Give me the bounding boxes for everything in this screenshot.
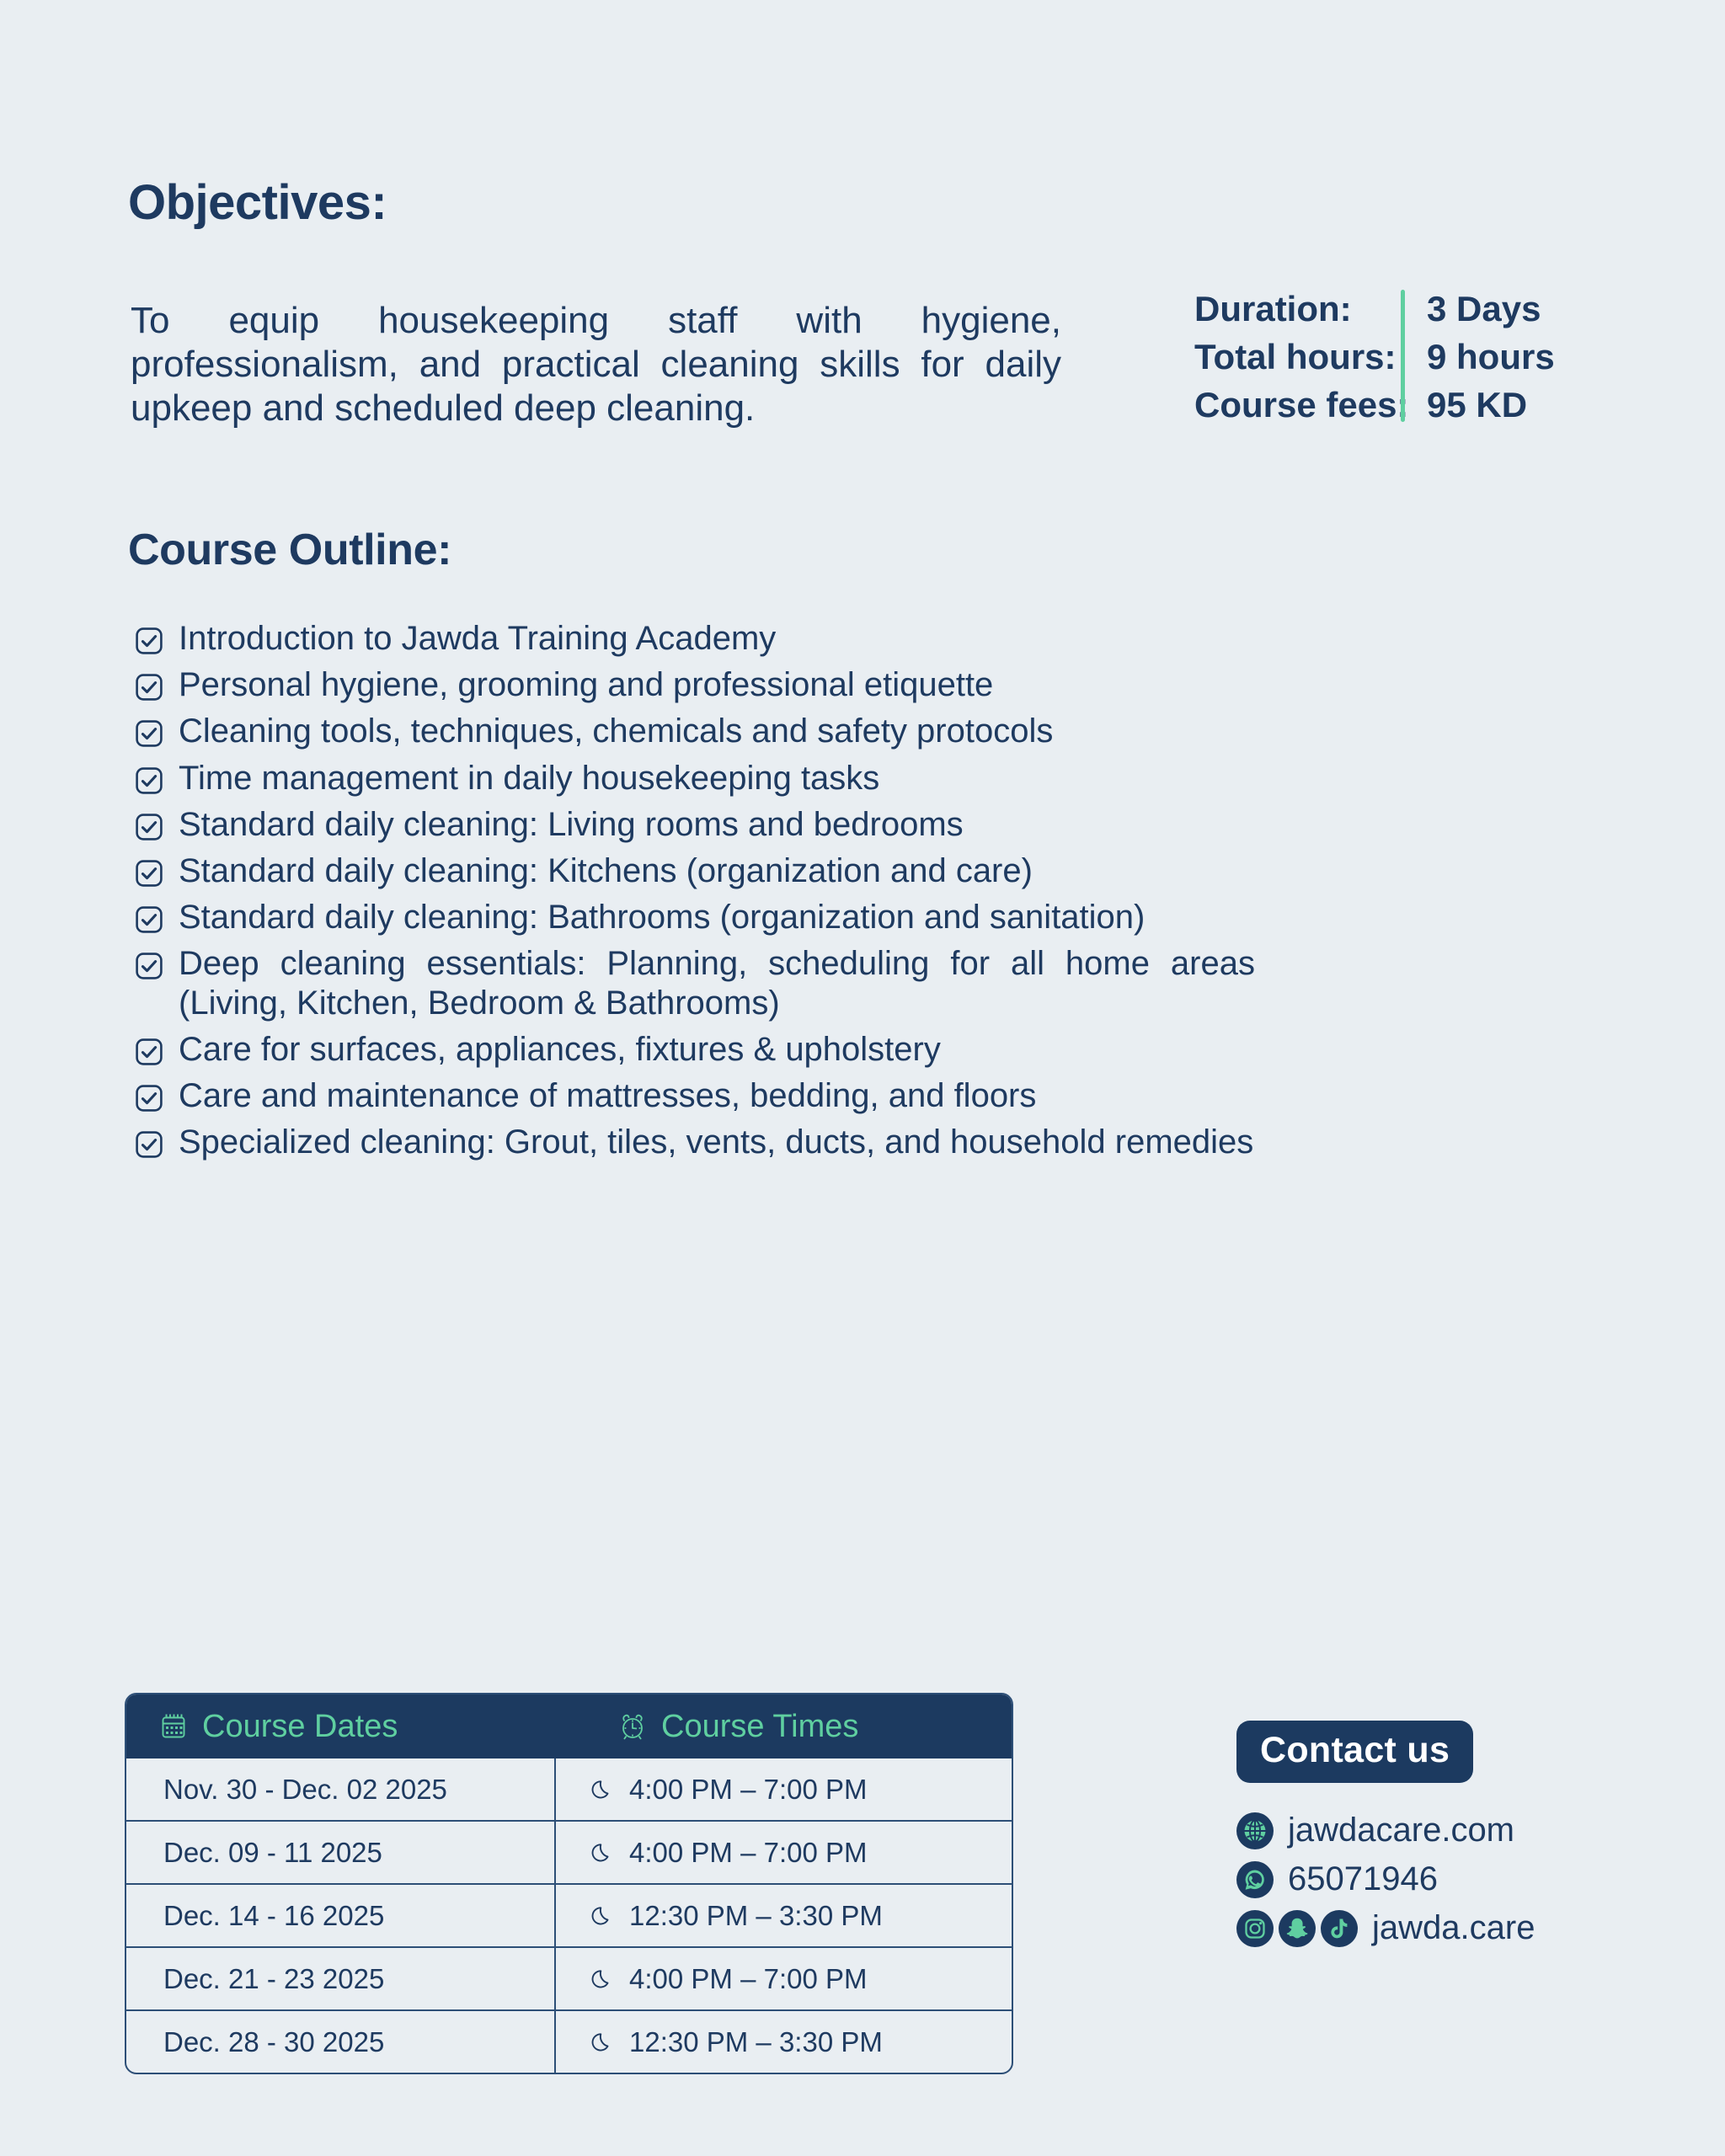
outline-item-label: Introduction to Jawda Training Academy: [179, 619, 1255, 658]
outline-item: Standard daily cleaning: Bathrooms (orga…: [135, 898, 1255, 937]
schedule-time-text: 4:00 PM – 7:00 PM: [629, 1963, 867, 1995]
schedule-table: Course Dates: [125, 1693, 1013, 2074]
schedule-table-body: Nov. 30 - Dec. 02 20254:00 PM – 7:00 PMD…: [126, 1758, 1012, 2073]
schedule-time-text: 12:30 PM – 3:30 PM: [629, 2026, 883, 2058]
schedule-table-row: Dec. 21 - 23 20254:00 PM – 7:00 PM: [126, 1946, 1012, 2009]
outline-item: Care for surfaces, appliances, fixtures …: [135, 1030, 1255, 1069]
column-header-course-times: Course Times: [588, 1694, 1012, 1758]
duration-label: Duration:: [1194, 285, 1401, 333]
checkbox-checked-icon: [135, 952, 163, 980]
schedule-time-cell: 4:00 PM – 7:00 PM: [556, 1948, 1012, 2009]
outline-item: Standard daily cleaning: Kitchens (organ…: [135, 851, 1255, 890]
crescent-moon-icon: [590, 1778, 613, 1801]
schedule-time-cell: 4:00 PM – 7:00 PM: [556, 1758, 1012, 1820]
outline-item: Cleaning tools, techniques, chemicals an…: [135, 712, 1255, 750]
schedule-time-cell: 12:30 PM – 3:30 PM: [556, 2011, 1012, 2073]
outline-item: Introduction to Jawda Training Academy: [135, 619, 1255, 658]
outline-item: Personal hygiene, grooming and professio…: [135, 665, 1255, 704]
crescent-moon-icon: [590, 1841, 613, 1865]
schedule-table-row: Nov. 30 - Dec. 02 20254:00 PM – 7:00 PM: [126, 1758, 1012, 1820]
checkbox-checked-icon: [135, 1084, 163, 1113]
contact-row[interactable]: jawda.care: [1236, 1909, 1590, 1947]
outline-item: Deep cleaning essentials: Planning, sche…: [135, 944, 1255, 1022]
objectives-heading: Objectives:: [128, 179, 387, 227]
schedule-date-cell: Dec. 28 - 30 2025: [126, 2011, 556, 2073]
contact-row[interactable]: 65071946: [1236, 1860, 1590, 1898]
course-outline-heading: Course Outline:: [128, 528, 451, 572]
outline-item-label: Specialized cleaning: Grout, tiles, vent…: [179, 1123, 1255, 1161]
outline-item: Time management in daily housekeeping ta…: [135, 759, 1255, 798]
outline-item-label: Standard daily cleaning: Bathrooms (orga…: [179, 898, 1255, 937]
globe-icon[interactable]: [1236, 1812, 1274, 1849]
schedule-date-text: Dec. 28 - 30 2025: [163, 2026, 384, 2058]
checkbox-checked-icon: [135, 719, 163, 748]
course-fees-value: 95 KD: [1427, 381, 1555, 429]
outline-item: Standard daily cleaning: Living rooms an…: [135, 805, 1255, 844]
checkbox-checked-icon: [135, 1130, 163, 1159]
calendar-icon: [158, 1711, 189, 1742]
outline-item: Care and maintenance of mattresses, bedd…: [135, 1076, 1255, 1115]
schedule-time-cell: 12:30 PM – 3:30 PM: [556, 1885, 1012, 1946]
column-header-course-times-label: Course Times: [661, 1709, 858, 1745]
instagram-icon[interactable]: [1236, 1910, 1274, 1947]
course-meta-labels: Duration: Total hours: Course fees:: [1194, 285, 1401, 429]
contact-handle-text: jawda.care: [1372, 1909, 1535, 1947]
schedule-time-text: 12:30 PM – 3:30 PM: [629, 1900, 883, 1932]
duration-value: 3 Days: [1427, 285, 1555, 333]
course-fees-label: Course fees:: [1194, 381, 1401, 429]
whatsapp-icon[interactable]: [1236, 1861, 1274, 1898]
checkbox-checked-icon: [135, 673, 163, 702]
outline-item: Specialized cleaning: Grout, tiles, vent…: [135, 1123, 1255, 1161]
contact-handle-text: 65071946: [1288, 1860, 1438, 1898]
outline-item-label: Standard daily cleaning: Living rooms an…: [179, 805, 1255, 844]
schedule-date-cell: Dec. 21 - 23 2025: [126, 1948, 556, 2009]
schedule-time-text: 4:00 PM – 7:00 PM: [629, 1837, 867, 1869]
outline-item-label: Standard daily cleaning: Kitchens (organ…: [179, 851, 1255, 890]
checkbox-checked-icon: [135, 1038, 163, 1066]
total-hours-label: Total hours:: [1194, 333, 1401, 381]
schedule-table-row: Dec. 28 - 30 202512:30 PM – 3:30 PM: [126, 2009, 1012, 2073]
outline-item-label: Care for surfaces, appliances, fixtures …: [179, 1030, 1255, 1069]
crescent-moon-icon: [590, 1904, 613, 1928]
checkbox-checked-icon: [135, 627, 163, 655]
outline-item-label: Deep cleaning essentials: Planning, sche…: [179, 944, 1255, 1022]
contact-block: Contact us jawdacare.com65071946jawda.ca…: [1236, 1721, 1590, 1958]
meta-divider: [1401, 290, 1405, 422]
outline-item-label: Time management in daily housekeeping ta…: [179, 759, 1255, 798]
course-meta-block: Duration: Total hours: Course fees: 3 Da…: [1194, 285, 1555, 429]
schedule-time-text: 4:00 PM – 7:00 PM: [629, 1774, 867, 1806]
schedule-date-text: Dec. 21 - 23 2025: [163, 1963, 384, 1995]
alarm-clock-icon: [617, 1711, 648, 1742]
column-header-course-dates: Course Dates: [126, 1694, 588, 1758]
schedule-date-text: Nov. 30 - Dec. 02 2025: [163, 1774, 447, 1806]
snapchat-icon[interactable]: [1279, 1910, 1316, 1947]
contact-row[interactable]: jawdacare.com: [1236, 1812, 1590, 1849]
schedule-date-text: Dec. 14 - 16 2025: [163, 1900, 384, 1932]
checkbox-checked-icon: [135, 766, 163, 795]
crescent-moon-icon: [590, 2031, 613, 2054]
schedule-date-cell: Nov. 30 - Dec. 02 2025: [126, 1758, 556, 1820]
crescent-moon-icon: [590, 1967, 613, 1991]
schedule-time-cell: 4:00 PM – 7:00 PM: [556, 1822, 1012, 1883]
schedule-table-row: Dec. 09 - 11 20254:00 PM – 7:00 PM: [126, 1820, 1012, 1883]
contact-rows: jawdacare.com65071946jawda.care: [1236, 1812, 1590, 1947]
checkbox-checked-icon: [135, 905, 163, 934]
course-flyer-page: Objectives: To equip housekeeping staff …: [0, 0, 1725, 2156]
outline-item-label: Cleaning tools, techniques, chemicals an…: [179, 712, 1255, 750]
checkbox-checked-icon: [135, 859, 163, 888]
schedule-date-cell: Dec. 09 - 11 2025: [126, 1822, 556, 1883]
column-header-course-dates-label: Course Dates: [202, 1709, 398, 1745]
outline-item-label: Care and maintenance of mattresses, bedd…: [179, 1076, 1255, 1115]
tiktok-icon[interactable]: [1321, 1910, 1358, 1947]
schedule-table-row: Dec. 14 - 16 202512:30 PM – 3:30 PM: [126, 1883, 1012, 1946]
course-meta-values: 3 Days 9 hours 95 KD: [1427, 285, 1555, 429]
total-hours-value: 9 hours: [1427, 333, 1555, 381]
contact-handle-text: jawdacare.com: [1288, 1812, 1514, 1849]
checkbox-checked-icon: [135, 813, 163, 841]
course-outline-list: Introduction to Jawda Training AcademyPe…: [135, 619, 1255, 1169]
objectives-body-text: To equip housekeeping staff with hygiene…: [131, 299, 1061, 430]
outline-item-label: Personal hygiene, grooming and professio…: [179, 665, 1255, 704]
contact-us-button[interactable]: Contact us: [1236, 1721, 1473, 1783]
schedule-date-cell: Dec. 14 - 16 2025: [126, 1885, 556, 1946]
schedule-date-text: Dec. 09 - 11 2025: [163, 1837, 382, 1869]
schedule-table-header: Course Dates: [126, 1694, 1012, 1758]
